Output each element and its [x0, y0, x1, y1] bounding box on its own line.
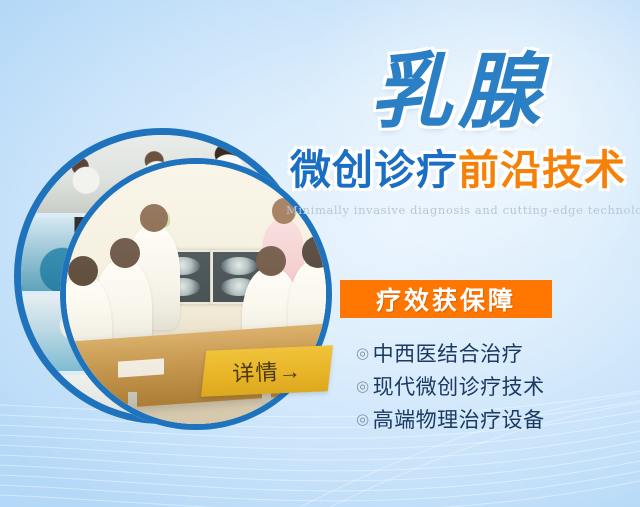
details-cta-label: 详情→: [203, 345, 332, 396]
bullet-icon: ◎: [356, 410, 370, 428]
title-subtitle: 微创诊疗前沿技术: [286, 136, 630, 196]
feature-list: ◎ 中西医结合治疗 ◎ 现代微创诊疗技术 ◎ 高端物理治疗设备: [356, 336, 606, 435]
feature-list-item: ◎ 现代微创诊疗技术: [356, 369, 606, 402]
feature-list-item-label: 高端物理治疗设备: [373, 404, 545, 434]
headline-block: 乳腺 微创诊疗前沿技术 Minimally invasive diagnosis…: [286, 52, 630, 217]
title-subtitle-blue: 微创诊疗: [290, 146, 458, 194]
feature-list-item-label: 现代微创诊疗技术: [373, 371, 545, 401]
bullet-icon: ◎: [356, 377, 370, 395]
title-english-tagline: Minimally invasive diagnosis and cutting…: [286, 203, 630, 217]
title-subtitle-orange: 前沿技术: [458, 146, 626, 194]
feature-list-item-label: 中西医结合治疗: [373, 338, 524, 368]
feature-list-item: ◎ 中西医结合治疗: [356, 336, 606, 369]
feature-list-item: ◎ 高端物理治疗设备: [356, 402, 606, 435]
promo-banner: 详情→ 乳腺 微创诊疗前沿技术 Minimally invasive diagn…: [0, 0, 640, 507]
details-cta-button[interactable]: 详情→: [201, 345, 333, 396]
circular-photo-collage: 详情→: [14, 128, 324, 438]
title-main: 乳腺: [286, 52, 630, 132]
bullet-icon: ◎: [356, 344, 370, 362]
guarantee-badge: 疗效获保障: [340, 280, 552, 318]
guarantee-badge-label: 疗效获保障: [376, 281, 516, 317]
